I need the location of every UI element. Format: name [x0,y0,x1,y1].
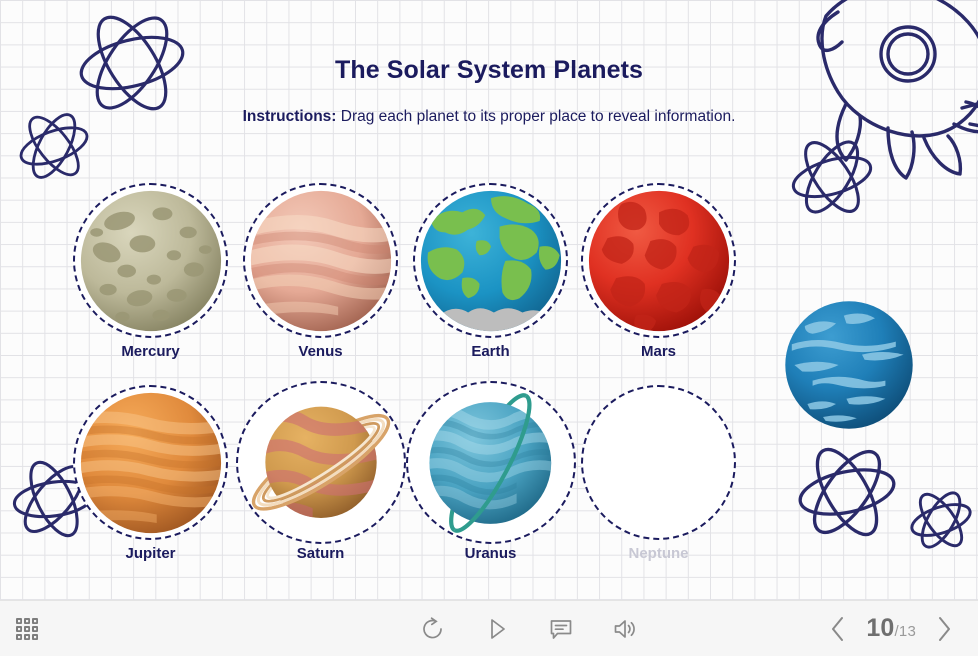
planet-saturn[interactable] [237,383,405,543]
current-page: 10 [866,614,894,642]
planet-slot-grid: Mercury [68,183,768,583]
instructions-body: Drag each planet to its proper place to … [336,108,735,125]
instructions-lead: Instructions: [243,108,337,125]
notes-icon[interactable] [548,616,574,642]
planet-label: Mercury [68,343,233,360]
planet-slot-neptune[interactable]: Neptune [576,385,741,589]
slides-grid-icon[interactable] [14,616,40,642]
next-slide-icon[interactable] [932,615,956,643]
planet-venus[interactable] [249,189,392,332]
planet-mars[interactable] [587,189,730,332]
page-title: The Solar System Planets [0,56,978,85]
draggable-planet-neptune[interactable] [784,300,914,430]
planet-slot-mercury[interactable]: Mercury [68,183,233,387]
player-toolbar: 10/13 [0,600,978,656]
planet-label: Neptune [576,545,741,562]
toolbar-right-group: 10/13 [728,614,978,643]
total-pages: /13 [895,623,916,640]
planet-label: Saturn [238,545,403,562]
planet-label: Mars [576,343,741,360]
planet-slot-uranus[interactable]: Uranus [408,385,573,589]
star-doodle [792,440,902,544]
play-icon[interactable] [484,616,510,642]
dropzone-neptune[interactable] [581,385,736,540]
dropzone-earth[interactable] [413,183,568,338]
planet-slot-venus[interactable]: Venus [238,183,403,387]
page-indicator: 10/13 [866,614,916,643]
planet-slot-earth[interactable]: Earth [408,183,573,387]
planet-slot-saturn[interactable]: Saturn [238,385,403,589]
replay-icon[interactable] [420,616,446,642]
slide-stage: The Solar System Planets Instructions: D… [0,0,978,656]
toolbar-left-group [0,616,330,642]
planet-label: Earth [408,343,573,360]
toolbar-center-group [330,616,728,642]
dropzone-uranus[interactable] [406,381,576,544]
dropzone-jupiter[interactable] [73,385,228,540]
instructions-text: Instructions: Drag each planet to its pr… [0,108,978,126]
planet-slot-mars[interactable]: Mars [576,183,741,387]
planet-label: Venus [238,343,403,360]
slide-canvas: The Solar System Planets Instructions: D… [0,0,978,600]
planet-slot-jupiter[interactable]: Jupiter [68,385,233,589]
previous-slide-icon[interactable] [826,615,850,643]
star-doodle [786,133,878,221]
planet-label: Jupiter [68,545,233,562]
dropzone-saturn[interactable] [236,381,406,544]
dropzone-venus[interactable] [243,183,398,338]
planet-earth[interactable] [419,189,562,332]
planet-label: Uranus [408,545,573,562]
dropzone-mercury[interactable] [73,183,228,338]
star-doodle [906,487,976,553]
planet-jupiter[interactable] [79,391,222,534]
dropzone-mars[interactable] [581,183,736,338]
volume-icon[interactable] [612,616,638,642]
planet-uranus[interactable] [411,385,571,540]
planet-mercury[interactable] [79,189,222,332]
rocket-doodle [812,0,978,188]
